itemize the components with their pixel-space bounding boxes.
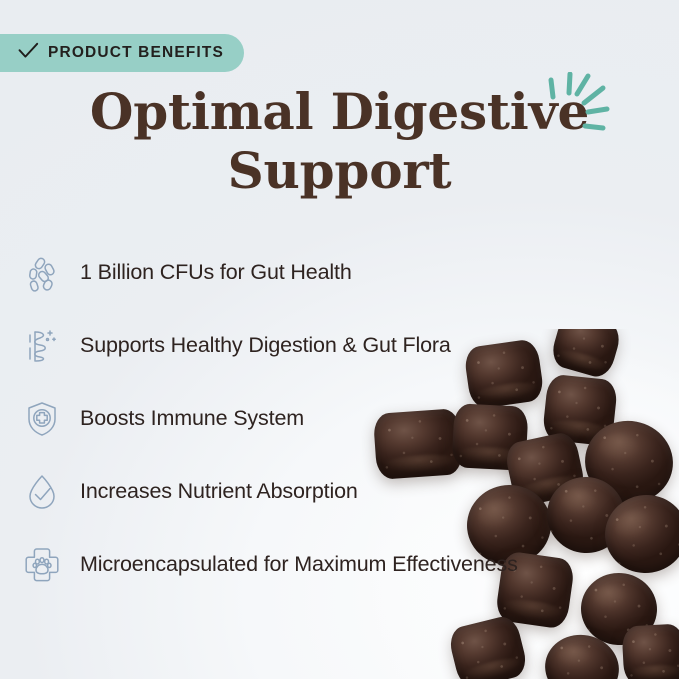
benefit-label: Boosts Immune System [80,406,304,431]
chew-piece [447,613,530,679]
benefit-row: 1 Billion CFUs for Gut Health [20,236,660,309]
benefit-row: Microencapsulated for Maximum Effectiven… [20,528,660,601]
product-benefits-badge: PRODUCT BENEFITS [0,34,244,72]
intestine-sparkle-icon [20,324,64,368]
shield-cross-icon [20,397,64,441]
benefit-row: Increases Nutrient Absorption [20,455,660,528]
benefit-label: 1 Billion CFUs for Gut Health [80,260,352,285]
droplet-check-icon [20,470,64,514]
chew-piece [621,623,679,679]
badge-label: PRODUCT BENEFITS [48,44,224,62]
check-icon [18,42,39,64]
benefit-label: Microencapsulated for Maximum Effectiven… [80,552,518,577]
page-title-line-1: Optimal Digestive [90,82,589,141]
benefit-row: Supports Healthy Digestion & Gut Flora [20,309,660,382]
benefit-label: Increases Nutrient Absorption [80,479,358,504]
benefit-label: Supports Healthy Digestion & Gut Flora [80,333,451,358]
benefit-row: Boosts Immune System [20,382,660,455]
page-title: Optimal Digestive Support [0,82,679,200]
page-title-line-2: Support [70,141,609,200]
chew-piece [539,629,624,679]
cross-paw-icon [20,543,64,587]
benefits-list: 1 Billion CFUs for Gut Health Supports H… [20,236,660,601]
product-benefits-poster: PRODUCT BENEFITS Optimal Digestive Suppo… [0,0,679,679]
probiotic-bacteria-icon [20,251,64,295]
